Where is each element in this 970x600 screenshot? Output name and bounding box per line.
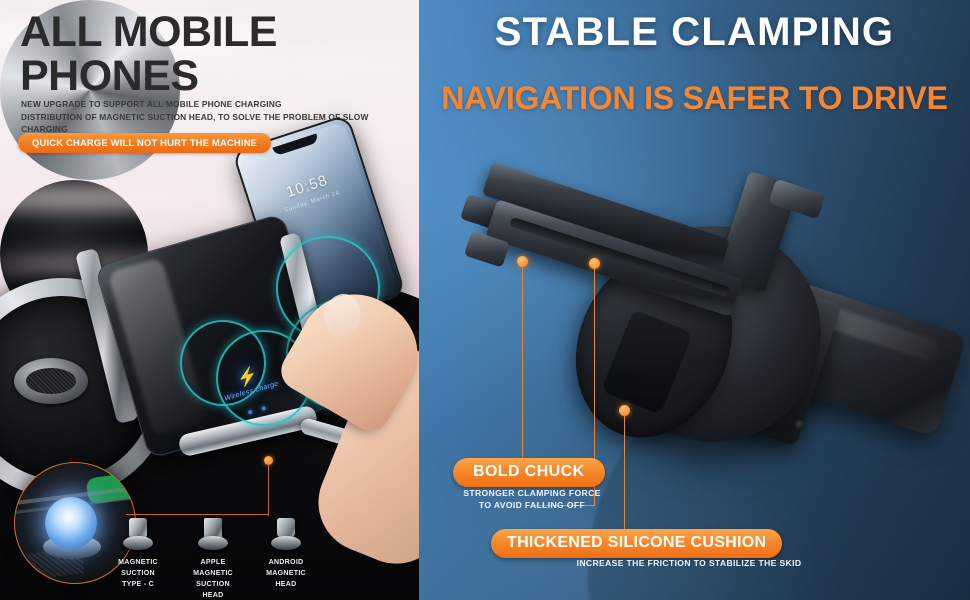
micro-usb-magnetic-head-icon [271,518,301,552]
connector-item: ANDROID MAGNETIC HEAD [258,518,314,590]
callout-line [624,416,625,530]
screw-hole [795,420,805,430]
headline-line-1: ALL MOBILE [20,10,410,54]
magnetic-head-glow-icon [45,497,97,549]
quick-charge-badge: QUICK CHARGE WILL NOT HURT THE MACHINE [18,133,271,153]
connector-item: APPLE MAGNETIC SUCTION HEAD [185,518,241,600]
connector-label: MAGNETIC SUCTION TYPE - C [110,557,166,590]
left-panel: 10:58 Sunday, March 14 ⚡ Wireless charge [0,0,419,600]
callout-desc-bold-chuck: STRONGER CLAMPING FORCE TO AVOID FALLING… [439,487,625,511]
phone-notch [272,133,319,156]
connector-label: ANDROID MAGNETIC HEAD [258,557,314,590]
sky-cloud [0,185,220,211]
right-panel: STABLE CLAMPING NAVIGATION IS SAFER TO D… [419,0,970,600]
callout-dot [517,256,528,267]
callout-line-horizontal [126,514,269,515]
subtitle-line-1: NEW UPGRADE TO SUPPORT ALL MOBILE PHONE … [21,98,413,111]
connector-label: APPLE MAGNETIC SUCTION HEAD [185,557,241,600]
lightning-magnetic-head-icon [198,518,228,552]
headline-line-2: PHONES [20,54,410,98]
callout-desc-silicone-cushion: INCREASE THE FRICTION TO STABILIZE THE S… [479,558,899,568]
usb-c-magnetic-head-icon [123,518,153,552]
callout-badge-bold-chuck: BOLD CHUCK [453,458,605,487]
left-subtitle: NEW UPGRADE TO SUPPORT ALL MOBILE PHONE … [21,98,413,136]
connector-item: MAGNETIC SUCTION TYPE - C [110,518,166,590]
subtitle-line-2: DISTRIBUTION OF MAGNETIC SUCTION HEAD, T… [21,111,413,136]
callout-badge-silicone-cushion: THICKENED SILICONE CUSHION [491,529,782,558]
callout-dot [589,258,600,269]
callout-line [522,267,523,465]
left-headline-block: ALL MOBILE PHONES [20,10,410,98]
callout-line-vertical [268,464,269,516]
air-vent-mesh [26,368,76,394]
product-banner: 10:58 Sunday, March 14 ⚡ Wireless charge [0,0,970,600]
callout-dot [619,405,630,416]
